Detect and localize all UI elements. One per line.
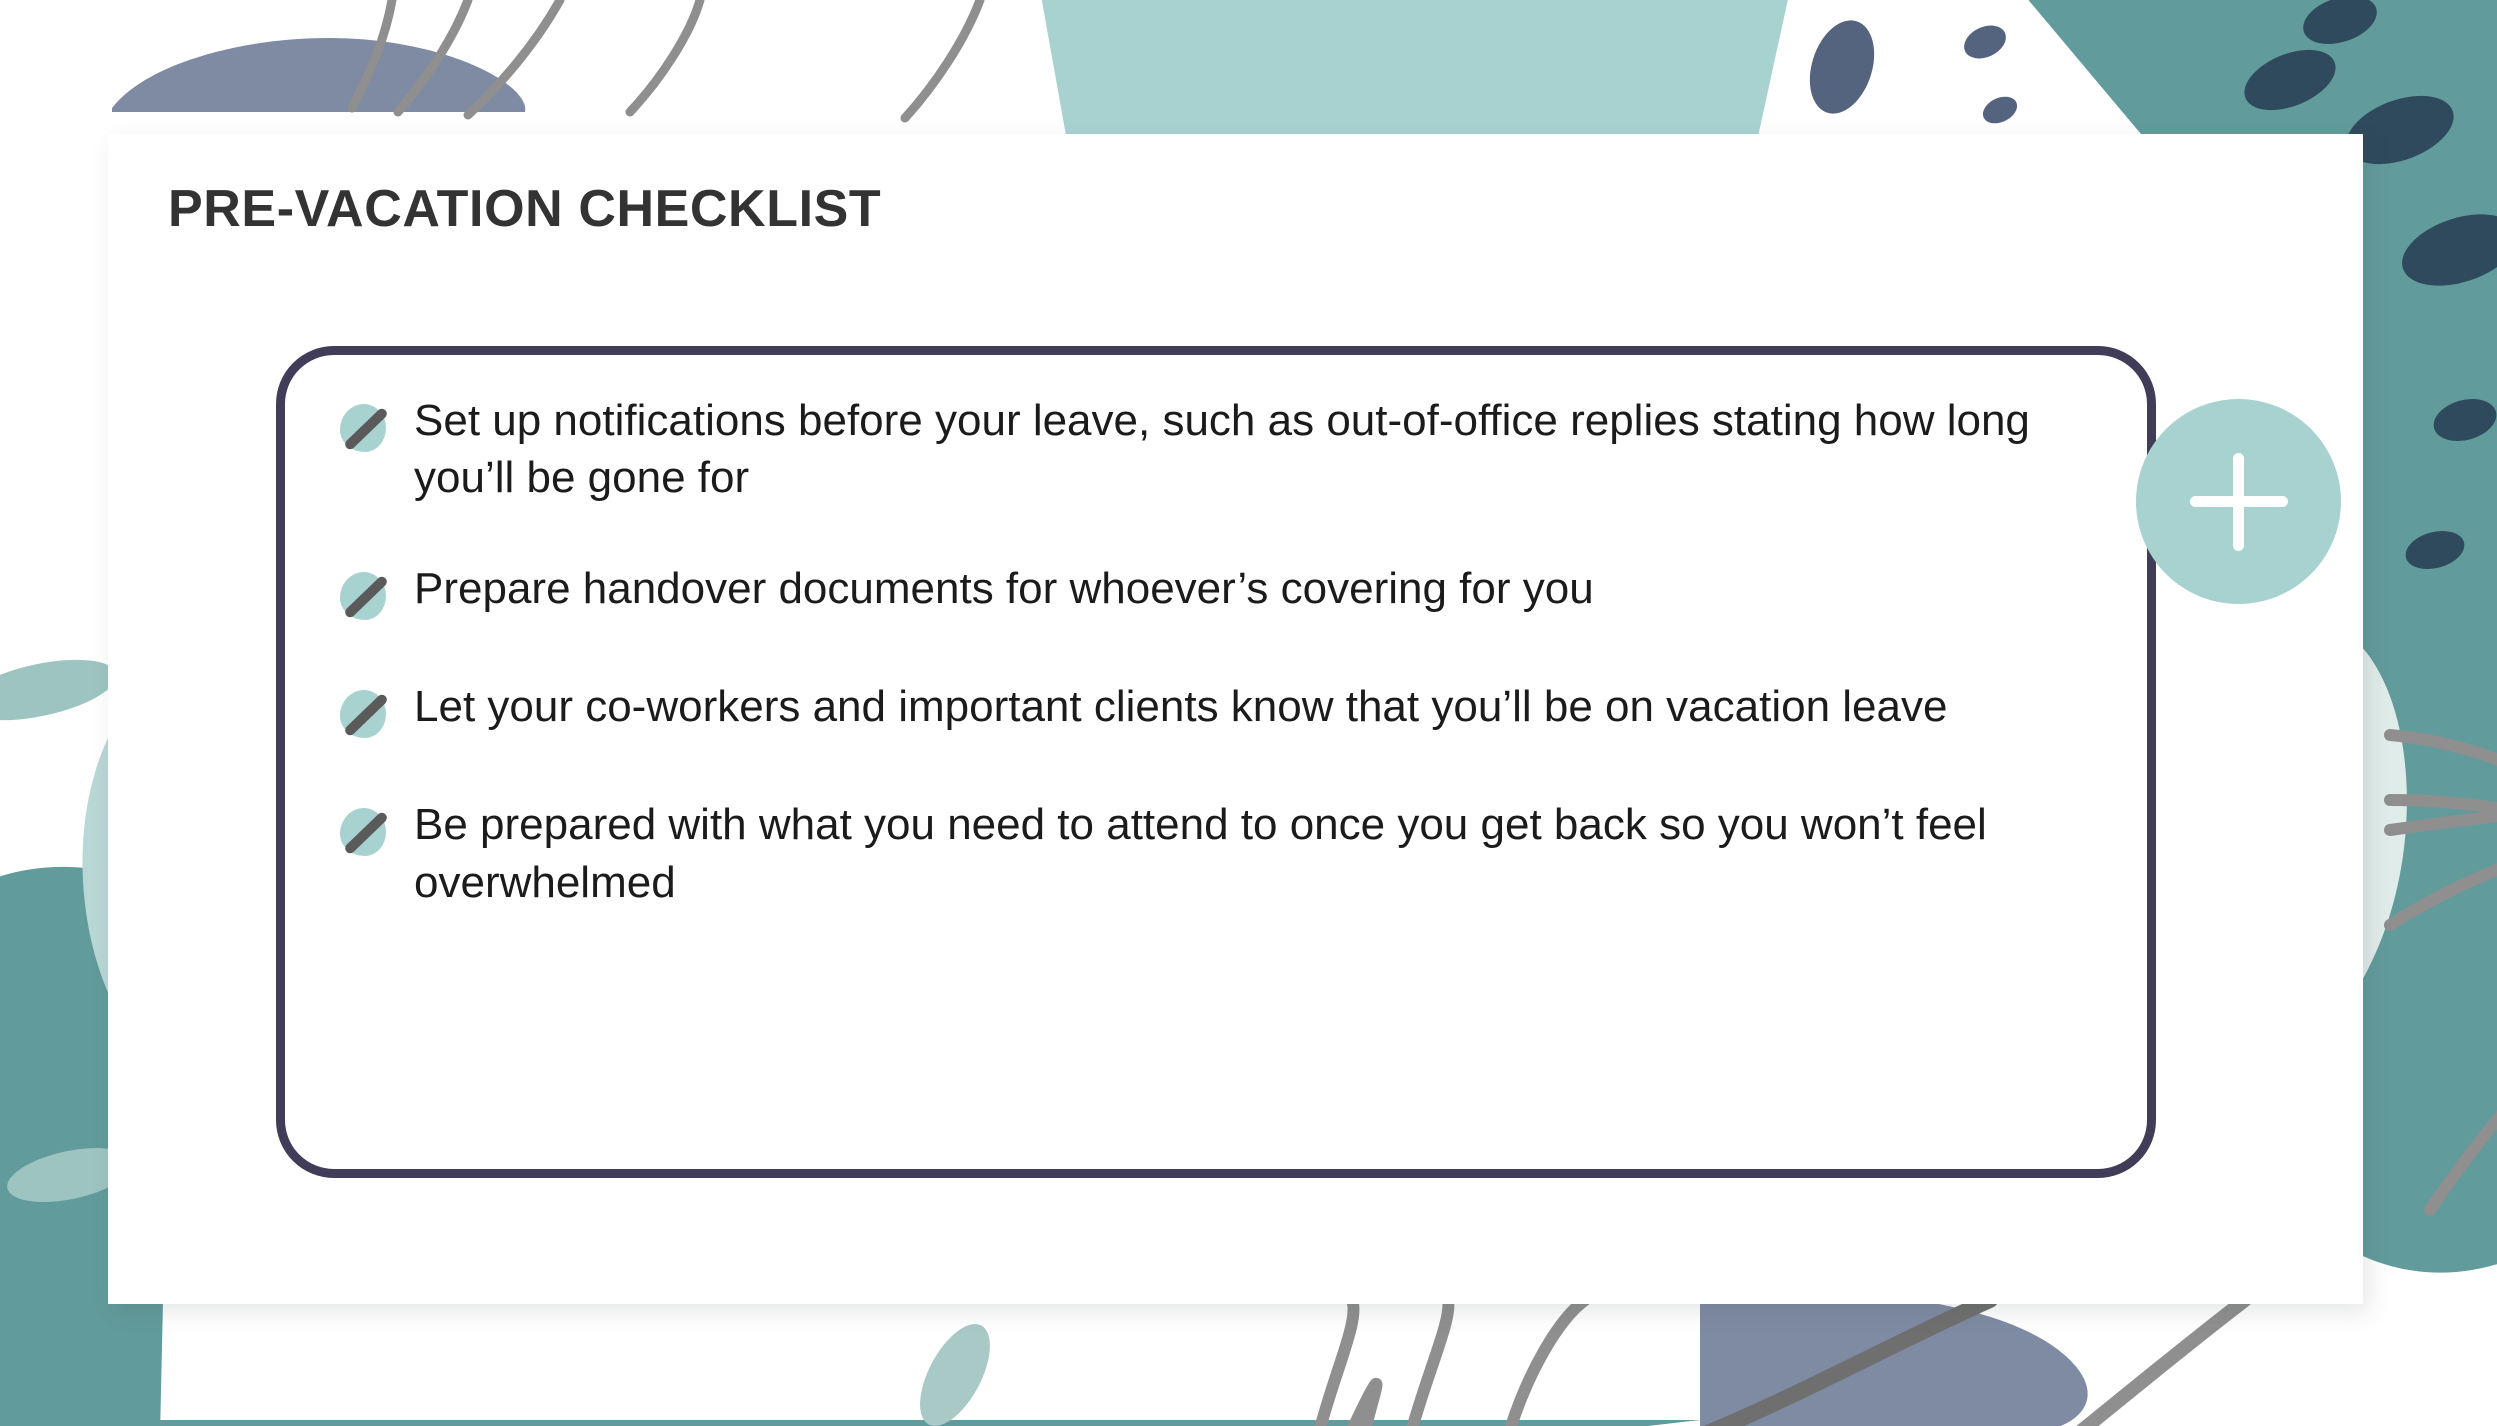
check-mark-icon (336, 686, 392, 742)
teal-pebble-l2 (0, 648, 122, 731)
check-mark-icon (336, 804, 392, 860)
add-button[interactable] (2136, 399, 2341, 604)
slide-canvas: PRE-VACATION CHECKLIST Set up notificati… (0, 0, 2497, 1426)
list-item-text: Set up notifications before your leave, … (414, 392, 2069, 506)
plus-icon-vertical (2233, 453, 2244, 551)
content-card: PRE-VACATION CHECKLIST Set up notificati… (108, 134, 2363, 1304)
slate-drop-3 (1959, 19, 2012, 65)
list-item[interactable]: Prepare handover documents for whoever’s… (336, 560, 2076, 624)
list-item-text: Prepare handover documents for whoever’s… (414, 560, 1594, 617)
list-item-text: Let your co-workers and important client… (414, 678, 1947, 735)
slate-blob-top-left (112, 38, 525, 112)
check-mark-icon (336, 568, 392, 624)
gray-curve-bottom-right (2075, 1300, 2245, 1426)
list-item[interactable]: Let your co-workers and important client… (336, 678, 2076, 742)
slate-drop-4 (1979, 92, 2022, 129)
list-item-text: Be prepared with what you need to attend… (414, 796, 2069, 910)
list-item[interactable]: Set up notifications before your leave, … (336, 392, 2076, 506)
list-item[interactable]: Be prepared with what you need to attend… (336, 796, 2076, 910)
slate-drop-1 (1799, 12, 1886, 122)
check-mark-icon (336, 400, 392, 456)
checklist: Set up notifications before your leave, … (336, 392, 2076, 911)
page-title: PRE-VACATION CHECKLIST (168, 179, 881, 239)
